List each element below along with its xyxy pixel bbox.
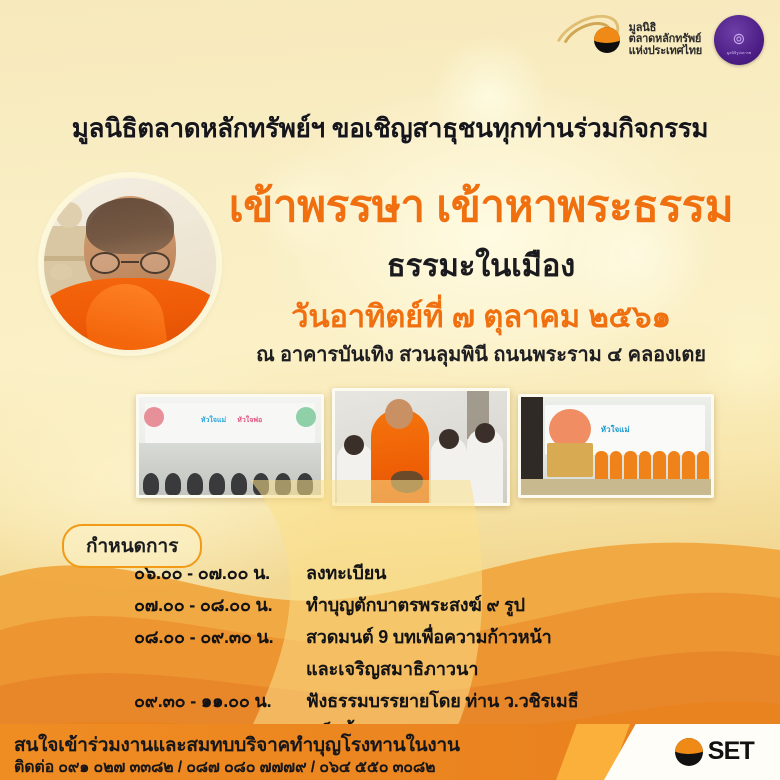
- schedule-time: ๐๖.๐๐ - ๐๗.๐๐ น.: [134, 558, 306, 587]
- schedule-activity: ลงทะเบียน: [306, 558, 386, 587]
- schedule-activity: ฟังธรรมบรรยายโดย ท่าน ว.วชิรเมธี: [306, 686, 578, 715]
- footer-bar: สนใจเข้าร่วมงานและสมทบบริจาคทำบุญโรงทานใ…: [0, 724, 780, 780]
- schedule-row: ๐๖.๐๐ - ๐๗.๐๐ น. ลงทะเบียน: [134, 558, 734, 587]
- foundation-line-3: แห่งประเทศไทย: [629, 46, 702, 58]
- schedule-list: ๐๖.๐๐ - ๐๗.๐๐ น. ลงทะเบียน ๐๗.๐๐ - ๐๘.๐๐…: [134, 558, 734, 750]
- page-title: เข้าพรรษา เข้าหาพระธรรม: [196, 183, 766, 231]
- seal-glyph: ๏: [733, 28, 745, 48]
- footer-contact-text: ติดต่อ ๐๙๑ ๐๒๗ ๓๓๘๒ / ๐๘๗ ๐๘๐ ๗๗๗๙ / ๐๖๔…: [14, 755, 435, 780]
- schedule-activity-continued: และเจริญสมาธิภาวนา: [306, 654, 734, 683]
- seal-label: มูลนิธิรูปเคารพ: [727, 50, 751, 56]
- monk-portrait: [44, 178, 216, 350]
- schedule-activity: สวดมนต์ 9 บทเพื่อความก้าวหน้า: [306, 622, 552, 651]
- set-foundation-logo: มูลนิธิ ตลาดหลักทรัพย์ แห่งประเทศไทย: [552, 14, 702, 66]
- event-venue: ณ อาคารบันเทิง สวนลุมพินี ถนนพระราม ๔ คล…: [196, 338, 766, 370]
- schedule-time: ๐๙.๓๐ - ๑๑.๐๐ น.: [134, 686, 306, 715]
- schedule-row: ๐๙.๓๐ - ๑๑.๐๐ น. ฟังธรรมบรรยายโดย ท่าน ว…: [134, 686, 734, 715]
- schedule-activity: ทำบุญตักบาตรพระสงฆ์ ๙ รูป: [306, 590, 525, 619]
- schedule-row: ๐๘.๐๐ - ๐๙.๓๐ น. สวดมนต์ 9 บทเพื่อความก้…: [134, 622, 734, 651]
- purple-circular-seal-icon: ๏ มูลนิธิรูปเคารพ: [714, 15, 764, 65]
- photo3-banner-text: หัวใจแม่: [601, 423, 630, 436]
- photo1-banner-text-2: หัวใจพ่อ: [237, 415, 262, 426]
- event-poster: มูลนิธิ ตลาดหลักทรัพย์ แห่งประเทศไทย ๏ ม…: [0, 0, 780, 780]
- event-date: วันอาทิตย์ที่ ๗ ตุลาคม ๒๕๖๑: [196, 291, 766, 341]
- photo1-banner-text-1: หัวใจแม่: [201, 415, 226, 426]
- set-logo-icon: SET: [675, 737, 754, 766]
- header-logos: มูลนิธิ ตลาดหลักทรัพย์ แห่งประเทศไทย ๏ ม…: [552, 14, 764, 66]
- glasses-icon: [88, 252, 172, 274]
- page-subtitle: ธรรมะในเมือง: [196, 240, 766, 290]
- set-swoosh-icon: [552, 14, 622, 66]
- schedule-time: ๐๘.๐๐ - ๐๙.๓๐ น.: [134, 622, 306, 651]
- set-mark-icon: [594, 27, 620, 53]
- invite-headline: มูลนิธิตลาดหลักทรัพย์ฯ ขอเชิญสาธุชนทุกท่…: [0, 108, 780, 149]
- schedule-row: ๐๗.๐๐ - ๐๘.๐๐ น. ทำบุญตักบาตรพระสงฆ์ ๙ ร…: [134, 590, 734, 619]
- foundation-name: มูลนิธิ ตลาดหลักทรัพย์ แห่งประเทศไทย: [629, 23, 702, 58]
- set-logo-text: SET: [708, 737, 754, 766]
- schedule-time: ๐๗.๐๐ - ๐๘.๐๐ น.: [134, 590, 306, 619]
- set-mark-icon: [675, 738, 703, 766]
